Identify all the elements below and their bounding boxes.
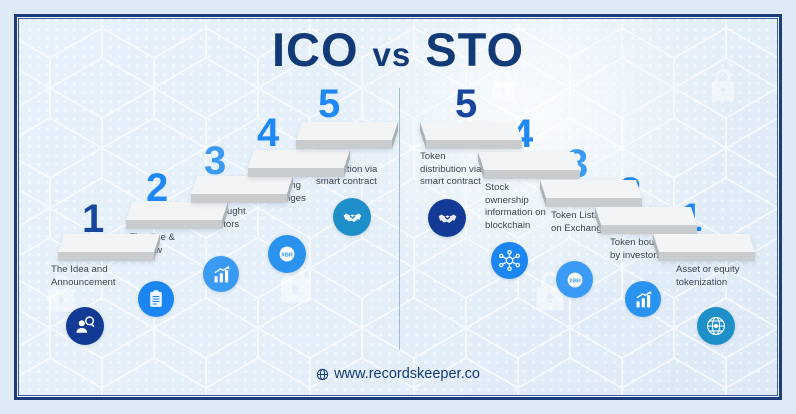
- ico-step-5[interactable]: [288, 118, 406, 160]
- svg-text:XBR: XBR: [281, 252, 293, 258]
- footer: www.recordskeeper.co: [0, 366, 796, 382]
- globe-network-icon[interactable]: [697, 307, 735, 345]
- title-vs: vs: [359, 36, 426, 73]
- growth-chart-icon[interactable]: [203, 256, 239, 292]
- step-platform: [288, 118, 406, 160]
- infographic-canvas: ICOvsSTO 1 The Idea and Announcement 2 T…: [0, 0, 796, 414]
- sto-step-1[interactable]: [645, 230, 763, 272]
- step-platform: [645, 230, 763, 272]
- blockchain-node-icon[interactable]: [491, 242, 528, 279]
- title-sto: STO: [425, 23, 524, 76]
- page-title: ICOvsSTO: [0, 22, 796, 77]
- svg-text:XBR: XBR: [569, 278, 581, 284]
- token-coin-icon[interactable]: XBR: [268, 235, 306, 273]
- canvas-edge-left: [0, 0, 14, 414]
- growth-chart-icon[interactable]: [625, 281, 661, 317]
- clipboard-icon[interactable]: [138, 281, 174, 317]
- token-coin-icon[interactable]: XBR: [556, 261, 593, 298]
- person-search-icon[interactable]: [66, 307, 104, 345]
- canvas-edge-top: [0, 0, 796, 14]
- canvas-edge-right: [782, 0, 796, 414]
- globe-icon: [316, 368, 329, 381]
- handshake-icon[interactable]: [333, 198, 371, 236]
- footer-url[interactable]: www.recordskeeper.co: [334, 366, 480, 382]
- canvas-edge-bottom: [0, 400, 796, 414]
- title-ico: ICO: [272, 23, 359, 76]
- handshake-icon[interactable]: [428, 199, 466, 237]
